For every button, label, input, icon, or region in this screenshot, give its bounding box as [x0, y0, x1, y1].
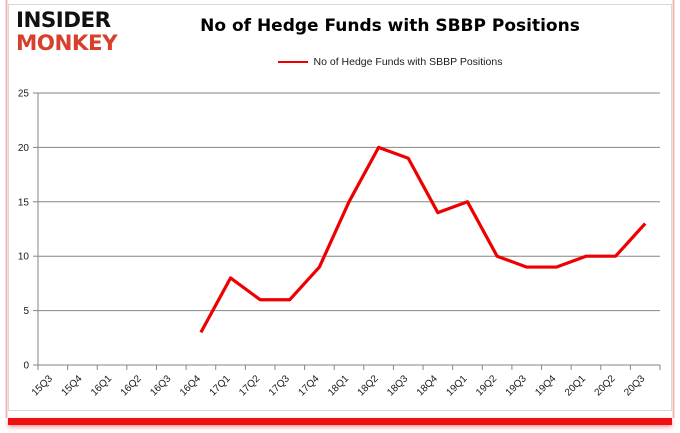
x-tick-label: 18Q1	[326, 373, 351, 398]
x-tick-label: 19Q1	[445, 373, 470, 398]
x-tick-label: 18Q4	[415, 373, 440, 398]
x-tick-label: 18Q3	[385, 373, 410, 398]
x-axis-ticks-group: 15Q315Q416Q116Q216Q316Q417Q117Q217Q317Q4…	[30, 365, 660, 398]
x-tick-label: 17Q4	[296, 373, 321, 398]
bottom-accent-bar	[8, 418, 672, 425]
x-tick-label: 18Q2	[356, 373, 381, 398]
y-tick-label: 25	[18, 89, 30, 100]
x-tick-label: 15Q3	[30, 373, 55, 398]
x-tick-label: 19Q4	[533, 373, 558, 398]
y-axis-ticks-group: 0510152025	[18, 89, 38, 372]
plot-area: 0510152025 15Q315Q416Q116Q216Q316Q417Q11…	[0, 0, 680, 433]
x-tick-label: 17Q1	[208, 373, 233, 398]
series-line-path	[201, 147, 645, 332]
x-tick-label: 20Q2	[593, 373, 618, 398]
y-tick-label: 0	[23, 361, 29, 372]
x-tick-label: 16Q2	[119, 373, 144, 398]
y-tick-label: 10	[18, 252, 30, 263]
x-tick-label: 20Q3	[622, 373, 647, 398]
y-tick-label: 15	[18, 197, 30, 208]
x-tick-label: 16Q1	[89, 373, 114, 398]
x-tick-label: 19Q3	[504, 373, 529, 398]
x-tick-label: 19Q2	[474, 373, 499, 398]
x-tick-label: 20Q1	[563, 373, 588, 398]
y-tick-label: 5	[23, 306, 29, 317]
x-tick-label: 16Q4	[178, 373, 203, 398]
x-tick-label: 15Q4	[59, 373, 84, 398]
chart-page: INSIDER MONKEY No of Hedge Funds with SB…	[0, 0, 680, 433]
x-tick-label: 17Q3	[267, 373, 292, 398]
x-tick-label: 17Q2	[237, 373, 262, 398]
line-chart-svg: 0510152025 15Q315Q416Q116Q216Q316Q417Q11…	[0, 0, 680, 433]
y-tick-label: 20	[18, 143, 30, 154]
x-tick-label: 16Q3	[148, 373, 173, 398]
